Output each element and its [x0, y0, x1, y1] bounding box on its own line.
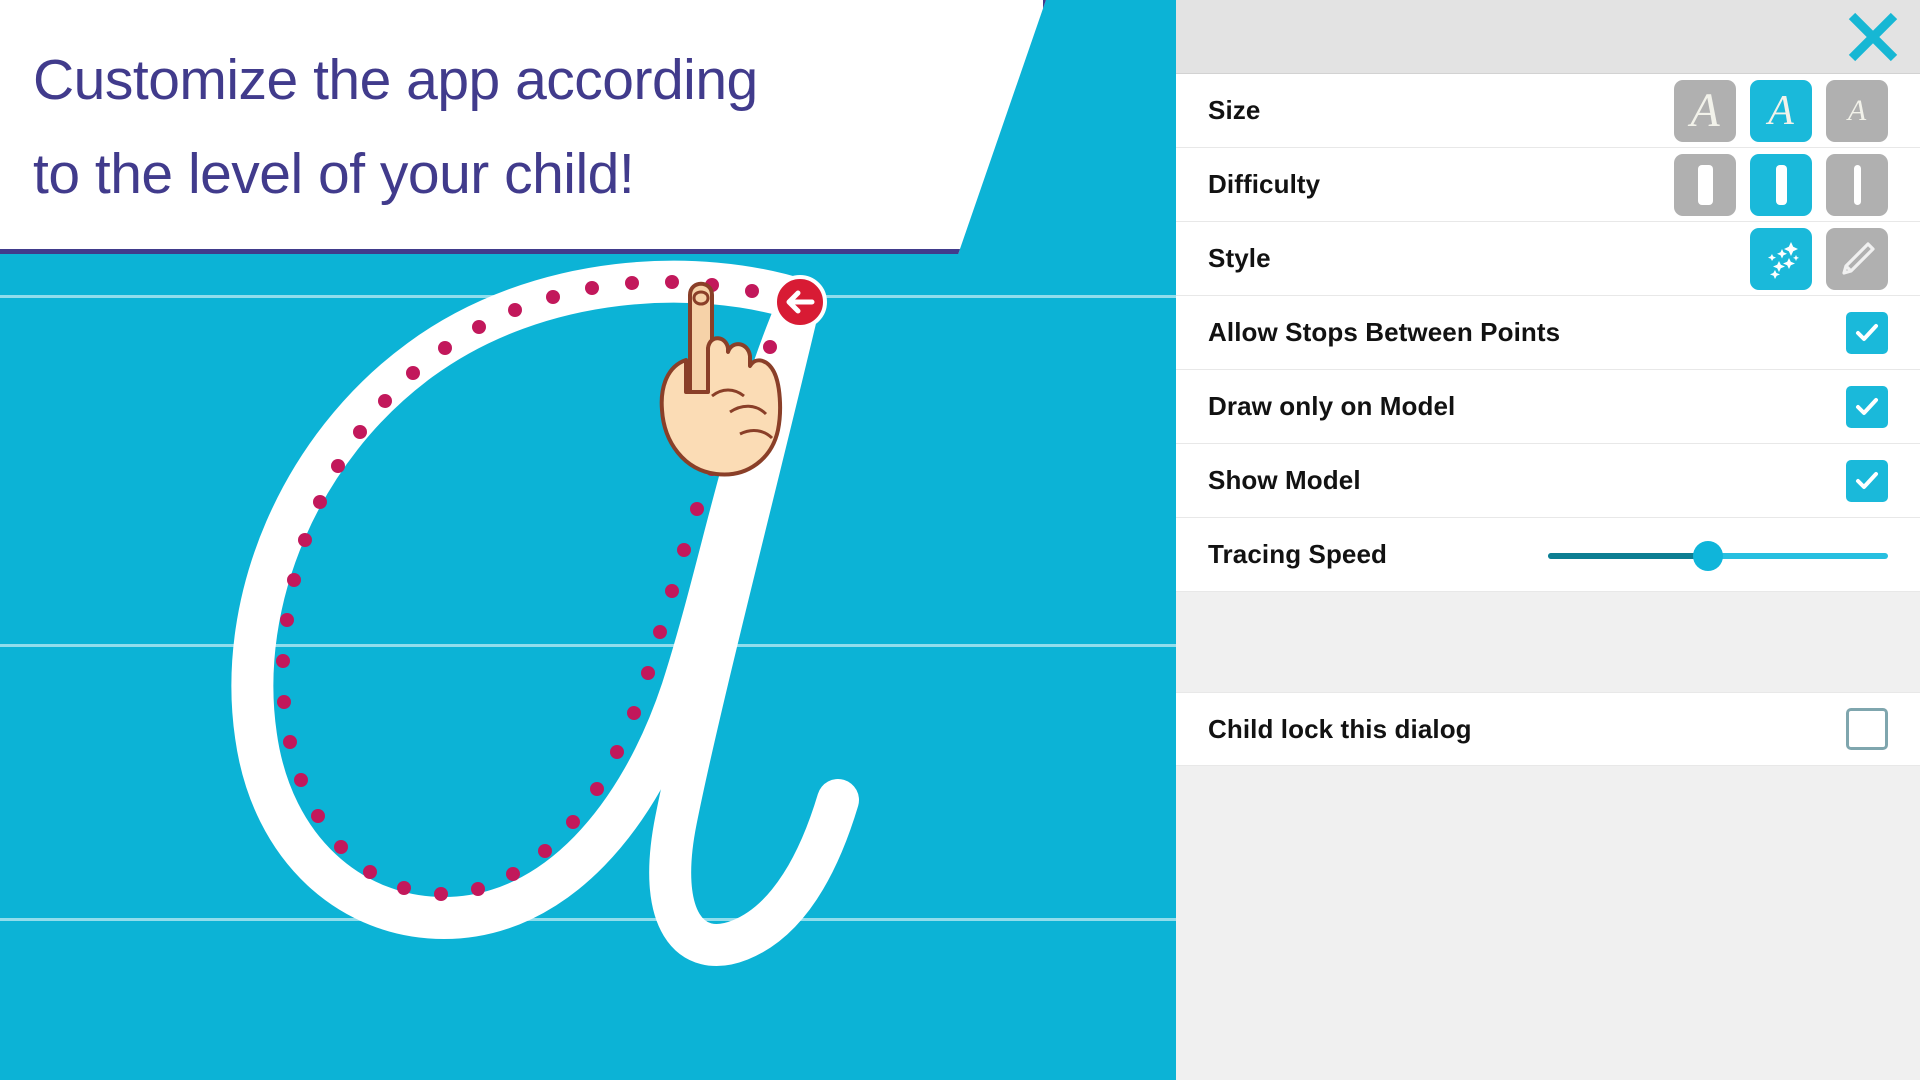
letter-a-small-icon[interactable]: A	[1826, 80, 1888, 142]
style-option-group	[1674, 228, 1888, 290]
checkbox-child-lock[interactable]	[1846, 708, 1888, 750]
bar-thick-icon[interactable]	[1674, 154, 1736, 216]
glyph-a: A	[1848, 96, 1866, 126]
bar-thin-icon[interactable]	[1826, 154, 1888, 216]
tracing-canvas[interactable]: Customize the app according to the level…	[0, 0, 1176, 1080]
row-label-draw-only-on-model: Draw only on Model	[1208, 391, 1455, 422]
glyph-a: A	[1768, 90, 1794, 132]
settings-row-draw-only-on-model: Draw only on Model	[1176, 370, 1920, 444]
settings-panel: Size A A A Difficulty	[1176, 0, 1920, 1080]
slider-thumb[interactable]	[1693, 541, 1723, 571]
difficulty-option-group	[1674, 154, 1888, 216]
bar-shape	[1854, 165, 1861, 205]
settings-row-show-model: Show Model	[1176, 444, 1920, 518]
row-label-tracing-speed: Tracing Speed	[1208, 539, 1387, 570]
checkbox-show-model[interactable]	[1846, 460, 1888, 502]
row-label-difficulty: Difficulty	[1208, 169, 1320, 200]
letter-a-large-icon[interactable]: A	[1674, 80, 1736, 142]
bar-shape	[1698, 165, 1713, 205]
size-option-group: A A A	[1674, 80, 1888, 142]
settings-row-child-lock: Child lock this dialog	[1176, 692, 1920, 766]
settings-row-style: Style	[1176, 222, 1920, 296]
row-label-style: Style	[1208, 243, 1271, 274]
settings-row-tracing-speed: Tracing Speed	[1176, 518, 1920, 592]
checkbox-allow-stops[interactable]	[1846, 312, 1888, 354]
banner-line-1: Customize the app according	[33, 33, 963, 127]
direction-arrow-marker	[775, 277, 825, 327]
slider-track-fill	[1548, 553, 1708, 559]
settings-rows: Size A A A Difficulty	[1176, 74, 1920, 862]
panel-header	[1176, 0, 1920, 74]
bar-medium-icon[interactable]	[1750, 154, 1812, 216]
tracing-speed-slider[interactable]	[1548, 534, 1888, 576]
panel-bottom-gap	[1176, 766, 1920, 862]
letter-a-medium-icon[interactable]: A	[1750, 80, 1812, 142]
row-label-allow-stops: Allow Stops Between Points	[1208, 317, 1560, 348]
glyph-a: A	[1690, 87, 1719, 135]
banner-line-2: to the level of your child!	[33, 127, 963, 221]
pencil-icon[interactable]	[1826, 228, 1888, 290]
pointing-hand-icon	[662, 284, 780, 475]
panel-gap-section	[1176, 592, 1920, 692]
style-spacer	[1674, 228, 1736, 290]
bar-shape	[1776, 165, 1787, 205]
row-label-size: Size	[1208, 95, 1260, 126]
checkbox-draw-only-on-model[interactable]	[1846, 386, 1888, 428]
instruction-banner: Customize the app according to the level…	[0, 0, 1048, 254]
settings-row-allow-stops: Allow Stops Between Points	[1176, 296, 1920, 370]
sparkles-icon[interactable]	[1750, 228, 1812, 290]
row-label-child-lock: Child lock this dialog	[1208, 714, 1472, 745]
settings-row-size: Size A A A	[1176, 74, 1920, 148]
settings-row-difficulty: Difficulty	[1176, 148, 1920, 222]
app-root: Customize the app according to the level…	[0, 0, 1920, 1080]
row-label-show-model: Show Model	[1208, 465, 1361, 496]
close-icon[interactable]	[1840, 4, 1906, 70]
